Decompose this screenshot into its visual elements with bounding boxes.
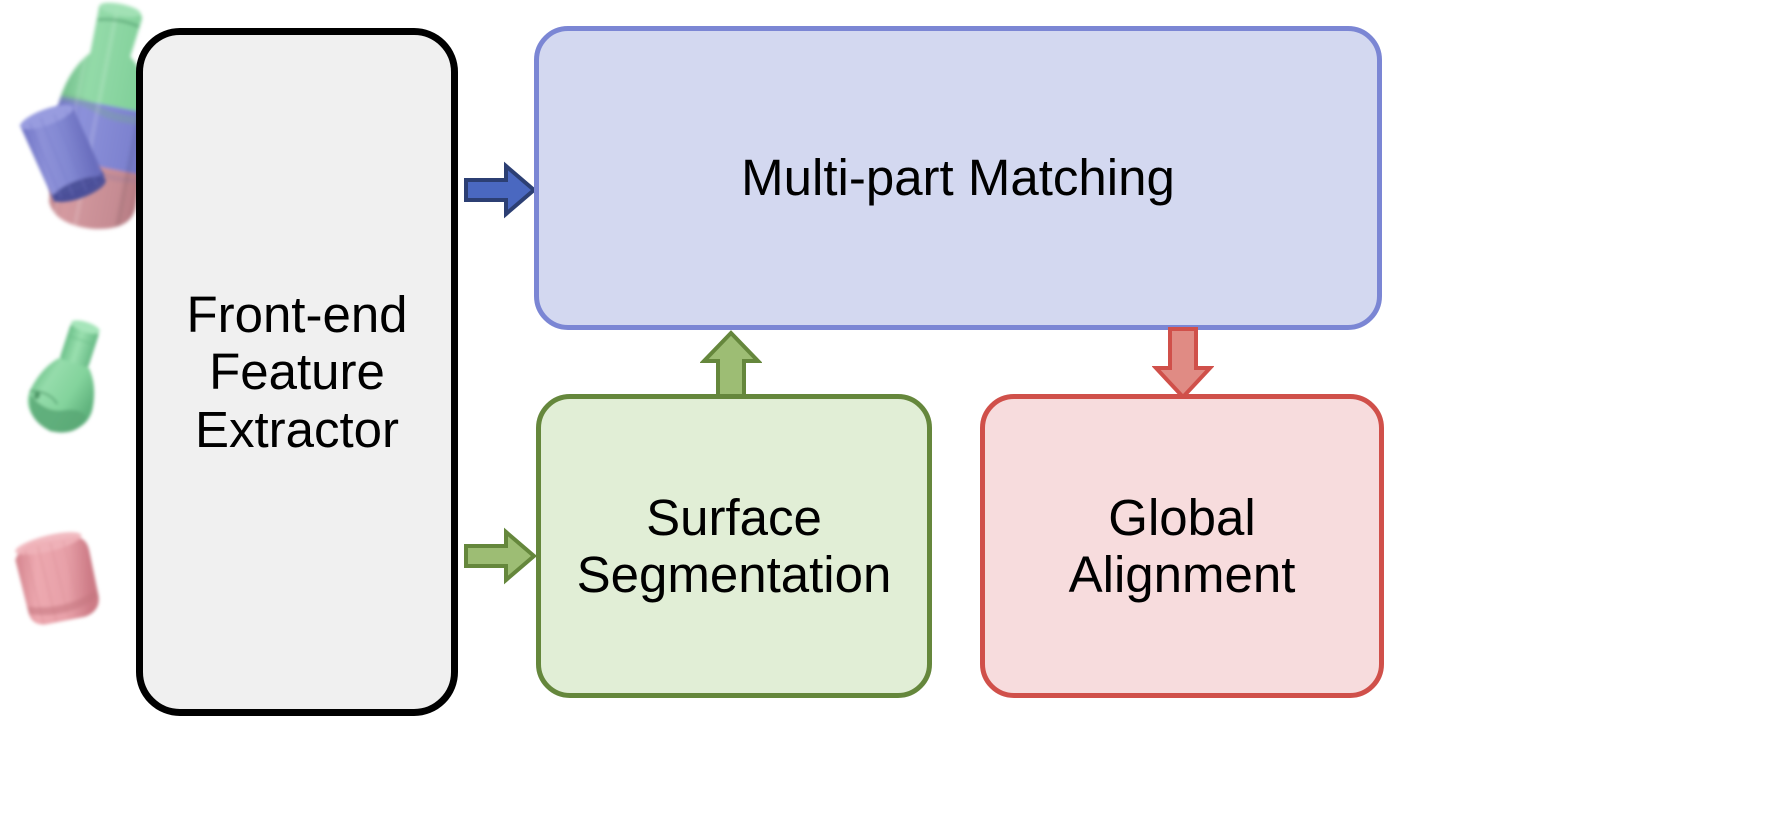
global-alignment-box: Global Alignment <box>980 394 1384 698</box>
green-bottle-neck-fragment-icon <box>4 314 130 454</box>
surface-segmentation-box: Surface Segmentation <box>536 394 932 698</box>
pink-base-fragment-icon <box>0 524 118 640</box>
blue-cylinder-fragment-icon <box>4 96 122 222</box>
multi-part-matching-box: Multi-part Matching <box>534 26 1382 330</box>
front-end-feature-extractor-box: Front-end Feature Extractor <box>136 28 458 716</box>
arrow-frontend-to-matching-icon <box>464 158 538 222</box>
global-alignment-label: Global Alignment <box>1069 489 1296 603</box>
front-end-feature-extractor-label: Front-end Feature Extractor <box>186 286 407 457</box>
surface-segmentation-label: Surface Segmentation <box>577 489 892 603</box>
arrow-frontend-to-segmentation-icon <box>464 524 538 588</box>
diagram-canvas: Front-end Feature Extractor Multi-part M… <box>0 0 1778 820</box>
multi-part-matching-label: Multi-part Matching <box>741 149 1175 206</box>
arrow-matching-to-alignment-icon <box>1152 326 1214 400</box>
arrow-segmentation-to-matching-icon <box>700 330 762 400</box>
